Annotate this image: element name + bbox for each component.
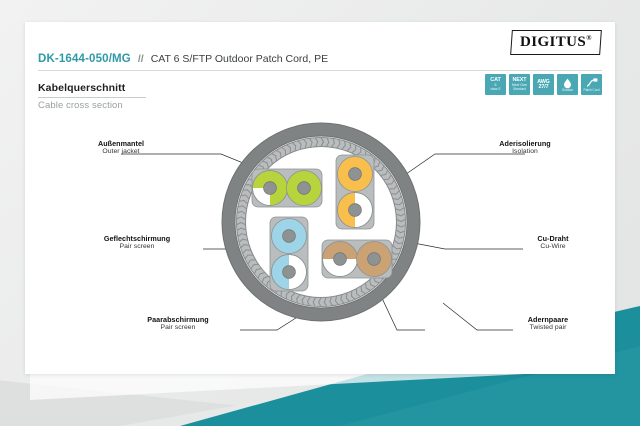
callout-pair-screen-en: Pair screen <box>147 324 208 332</box>
blue-pair-conductor-b <box>283 266 296 279</box>
callout-cu-wire-de: Cu-Draht <box>537 234 568 243</box>
callout-pair-screen-de: Paarabschirmung <box>147 315 208 324</box>
callout-braid-shield-de: Geflechtschirmung <box>104 234 170 243</box>
callout-braid-shield: Geflechtschirmung Pair screen <box>104 234 170 251</box>
green-pair-conductor-a <box>264 182 277 195</box>
callout-isolation-de: Aderisolierung <box>499 139 550 148</box>
brown-pair-conductor-a <box>334 253 347 266</box>
callout-braid-shield-en: Pair screen <box>104 243 170 251</box>
callout-isolation-en: Isolation <box>499 148 550 156</box>
callout-twisted-pair-en: Twisted pair <box>528 324 568 332</box>
orange-pair-conductor-b <box>349 204 362 217</box>
green-pair <box>252 169 322 207</box>
callout-twisted-pair: Adernpaare Twisted pair <box>528 315 568 332</box>
green-pair-conductor-b <box>298 182 311 195</box>
callout-isolation: Aderisolierung Isolation <box>499 139 550 156</box>
cable-cross-section-diagram <box>25 22 615 374</box>
brown-pair-conductor-b <box>368 253 381 266</box>
cable-body <box>222 123 420 321</box>
brown-pair <box>322 240 392 278</box>
callout-cu-wire-en: Cu-Wire <box>537 243 568 251</box>
orange-pair <box>336 155 374 229</box>
callout-outer-jacket-de: Außenmantel <box>98 139 144 148</box>
blue-pair <box>270 217 308 291</box>
callout-outer-jacket-en: Outer jacket <box>98 148 144 156</box>
callout-pair-screen: Paarabschirmung Pair screen <box>147 315 208 332</box>
orange-pair-conductor-a <box>349 168 362 181</box>
product-datasheet-page: DIGITUS® DK-1644-050/MG // CAT 6 S/FTP O… <box>25 22 615 374</box>
blue-pair-conductor-a <box>283 230 296 243</box>
callout-twisted-pair-de: Adernpaare <box>528 315 568 324</box>
callout-outer-jacket: Außenmantel Outer jacket <box>98 139 144 156</box>
callout-cu-wire: Cu-Draht Cu-Wire <box>537 234 568 251</box>
